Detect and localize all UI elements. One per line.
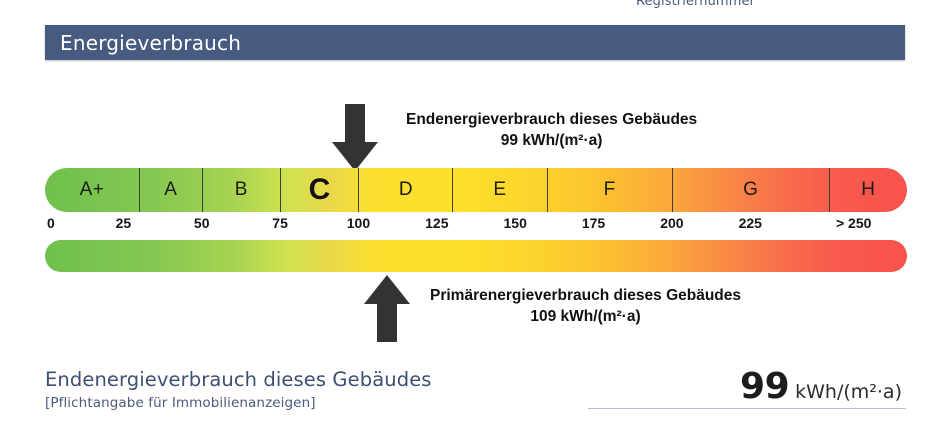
grade-label: C: [309, 173, 331, 207]
grade-label: H: [861, 179, 875, 201]
summary-label: Endenergieverbrauch dieses Gebäudes: [45, 368, 432, 391]
tick-label: 225: [739, 215, 762, 231]
summary-underline: [588, 408, 906, 409]
energy-scale-gradient-strip: [45, 240, 907, 272]
tick-label: 100: [347, 215, 370, 231]
grade-cell-f: F: [547, 168, 672, 212]
grade-label: B: [235, 179, 248, 201]
summary-unit: kWh/(m²·a): [795, 381, 902, 403]
grade-cell-h: H: [829, 168, 907, 212]
energy-scale-grades-strip: A+ABCDEFGH: [45, 168, 907, 212]
registration-number-label: Registriernummer: [636, 0, 755, 9]
energy-scale: A+ABCDEFGH 0255075100125150175200225> 25…: [45, 168, 907, 272]
grade-cell-e: E: [452, 168, 546, 212]
primary-energy-annotation-value: 109 kWh/(m²·a): [430, 307, 741, 328]
summary-row: Endenergieverbrauch dieses Gebäudes [Pfl…: [45, 368, 907, 426]
end-energy-annotation-value: 99 kWh/(m²·a): [406, 131, 697, 152]
energy-scale-ticks: 0255075100125150175200225> 250: [45, 214, 907, 238]
tick-label: 125: [425, 215, 448, 231]
summary-value: 99: [740, 366, 789, 407]
primary-energy-annotation-title: Primärenergieverbrauch dieses Gebäudes: [430, 287, 741, 304]
grade-label: G: [743, 179, 758, 201]
grade-label: F: [604, 179, 616, 201]
section-header: Energieverbrauch: [45, 25, 905, 60]
up-arrow-icon: [363, 274, 411, 342]
tick-label: 150: [503, 215, 526, 231]
tick-label: 200: [660, 215, 683, 231]
tick-label: 75: [272, 215, 288, 231]
down-arrow-icon: [331, 104, 379, 172]
grade-label: A: [164, 179, 177, 201]
grade-cell-a: A: [139, 168, 202, 212]
grade-label: A+: [80, 179, 105, 201]
summary-value-group: 99 kWh/(m²·a): [740, 366, 902, 407]
grade-label: D: [399, 179, 413, 201]
summary-sublabel: [Pflichtangabe für Immobilienanzeigen]: [45, 395, 316, 411]
tick-label: > 250: [836, 215, 871, 231]
tick-label: 175: [582, 215, 605, 231]
grade-cell-b: B: [202, 168, 280, 212]
grade-cell-aplus: A+: [45, 168, 139, 212]
tick-label: 25: [116, 215, 132, 231]
grade-cell-d: D: [358, 168, 452, 212]
grade-cell-c: C: [280, 168, 358, 212]
grade-label: E: [493, 179, 506, 201]
primary-energy-annotation: Primärenergieverbrauch dieses Gebäudes 1…: [430, 286, 741, 328]
tick-label: 50: [194, 215, 210, 231]
grade-cell-g: G: [672, 168, 829, 212]
tick-label: 0: [47, 215, 55, 231]
section-header-title: Energieverbrauch: [60, 31, 241, 55]
end-energy-annotation-title: Endenergieverbrauch dieses Gebäudes: [406, 111, 697, 128]
end-energy-annotation: Endenergieverbrauch dieses Gebäudes 99 k…: [406, 110, 697, 152]
